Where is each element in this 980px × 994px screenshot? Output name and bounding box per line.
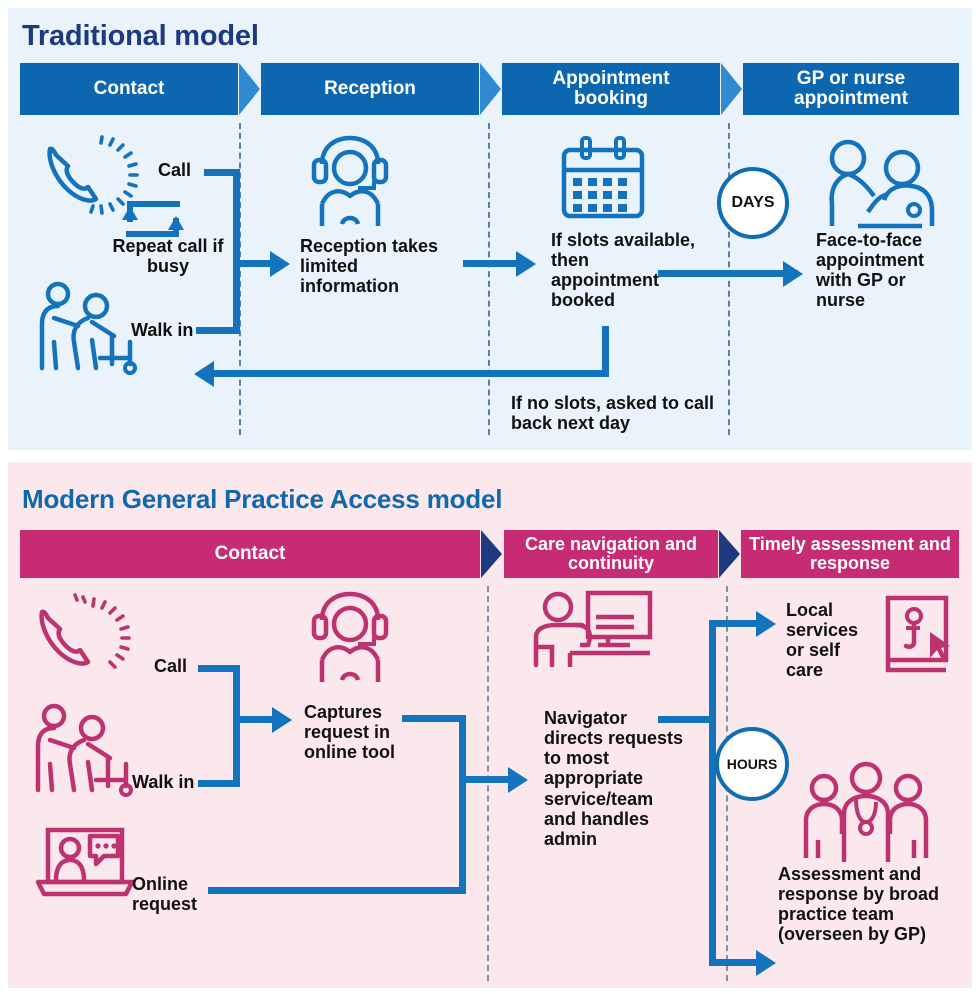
connector-to-assessment-h — [709, 959, 763, 966]
label-call: Call — [158, 160, 191, 180]
practice-team-icon — [798, 762, 934, 866]
gp-consultation-icon — [818, 138, 938, 230]
connector-walkin-h — [196, 327, 240, 334]
banner-modern-contact[interactable]: Contact — [20, 530, 480, 578]
headset-receptionist-icon — [302, 590, 398, 682]
headset-receptionist-icon — [302, 134, 398, 226]
connector-noslots-v — [602, 326, 609, 376]
label-repeat-call: Repeat call if busy — [103, 236, 233, 276]
connector-to-reception-h — [233, 260, 273, 267]
label-face-to-face: Face-to-face appointment with GP or nurs… — [816, 230, 956, 311]
hours-badge: HOURS — [715, 727, 789, 801]
label-modern-call: Call — [154, 656, 187, 676]
phone-ringing-icon — [30, 594, 142, 676]
label-local-services: Local services or self care — [786, 600, 872, 681]
modern-model-title: Modern General Practice Access model — [22, 484, 502, 515]
connector-to-local-services-h — [709, 620, 763, 627]
connector-noslots-h — [213, 370, 609, 377]
connector-online-request-v — [459, 715, 466, 894]
days-badge: DAYS — [717, 167, 789, 239]
connector-to-navigator-h — [459, 776, 513, 783]
chevron-right-icon-5 — [719, 530, 740, 578]
banner-timely-assessment[interactable]: Timely assessment and response — [741, 530, 959, 578]
arrow-to-gp — [783, 261, 803, 287]
arrow-to-booking — [516, 251, 536, 277]
connector-merge-v — [233, 169, 240, 334]
arrow-back-to-contact — [194, 361, 214, 387]
traditional-model-panel: Traditional model Contact Reception Appo… — [8, 8, 972, 450]
self-care-booklet-icon — [880, 592, 958, 678]
connector-online-request-h — [208, 887, 466, 894]
connector-modern-walkin-h — [198, 780, 240, 787]
laptop-online-request-icon — [34, 822, 140, 900]
calendar-icon — [558, 136, 648, 222]
connector-booking-to-gp — [658, 270, 798, 277]
column-separator-3 — [728, 123, 730, 435]
arrow-to-captures — [272, 707, 292, 733]
label-if-no-slots: If no slots, asked to call back next day — [511, 393, 721, 433]
banner-care-navigation[interactable]: Care navigation and continuity — [504, 530, 718, 578]
modern-model-panel: Modern General Practice Access model Con… — [8, 462, 972, 988]
walking-patients-icon — [30, 702, 142, 798]
traditional-model-title: Traditional model — [22, 20, 259, 53]
label-navigator: Navigator directs requests to most appro… — [544, 708, 684, 849]
chevron-right-icon-2 — [480, 63, 501, 115]
column-separator-2 — [488, 123, 490, 435]
arrow-to-local-services — [756, 611, 776, 637]
label-reception-takes: Reception takes limited information — [300, 236, 450, 296]
label-captures-request: Captures request in online tool — [304, 702, 412, 762]
connector-modern-to-captures-h — [233, 716, 275, 723]
label-modern-walk-in: Walk in — [132, 772, 194, 792]
repeat-loop-icon — [114, 200, 192, 236]
navigator-desk-icon — [526, 587, 662, 679]
walking-patients-icon — [34, 280, 146, 376]
banner-gp-or-nurse-appointment[interactable]: GP or nurse appointment — [743, 63, 959, 115]
label-assessment-response: Assessment and response by broad practic… — [778, 864, 958, 945]
label-walk-in: Walk in — [131, 320, 193, 340]
connector-captures-out-h — [402, 715, 466, 722]
connector-navigator-split-v — [709, 620, 716, 966]
arrow-to-reception — [270, 251, 290, 277]
banner-appointment-booking[interactable]: Appointment booking — [502, 63, 720, 115]
banner-contact[interactable]: Contact — [20, 63, 238, 115]
connector-navigator-out-h — [658, 716, 716, 723]
modern-column-separator-1 — [487, 586, 489, 981]
label-online-request: Online request — [132, 874, 242, 914]
arrow-to-assessment — [756, 950, 776, 976]
chevron-right-icon-3 — [721, 63, 742, 115]
chevron-right-icon-4 — [481, 530, 502, 578]
chevron-right-icon-1 — [239, 63, 260, 115]
arrow-to-navigator — [508, 767, 528, 793]
infographic-root: Traditional model Contact Reception Appo… — [0, 0, 980, 994]
banner-reception[interactable]: Reception — [261, 63, 479, 115]
